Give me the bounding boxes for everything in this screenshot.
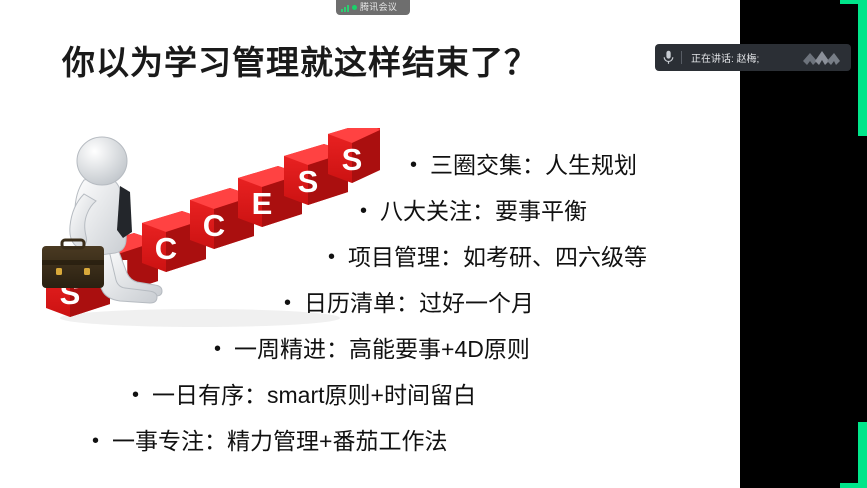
bullet-text: 项目管理：如考研、四六级等 bbox=[348, 246, 647, 269]
bullet-text: 日历清单：过好一个月 bbox=[304, 292, 534, 315]
active-speaker-label: 正在讲话: 赵梅; bbox=[682, 50, 797, 65]
screen-share-border-bottom bbox=[840, 483, 867, 488]
list-item: • 日历清单：过好一个月 bbox=[0, 280, 740, 326]
meeting-screen-share-view: 你以为学习管理就这样结束了？ bbox=[0, 0, 867, 488]
bullet-marker: • bbox=[214, 339, 221, 359]
screen-share-border-right bbox=[858, 0, 867, 136]
bullet-marker: • bbox=[132, 385, 139, 405]
page-title: 你以为学习管理就这样结束了？ bbox=[62, 36, 538, 84]
recording-dot-icon bbox=[352, 5, 357, 10]
signal-bars-icon bbox=[341, 4, 349, 12]
meeting-app-label: 腾讯会议 bbox=[360, 0, 397, 15]
bullet-list: • 三圈交集：人生规划 • 八大关注：要事平衡 • 项目管理：如考研、四六级等 … bbox=[0, 142, 740, 464]
bullet-text: 一周精进：高能要事+4D原则 bbox=[234, 338, 530, 361]
list-item: • 项目管理：如考研、四六级等 bbox=[0, 234, 740, 280]
list-item: • 一周精进：高能要事+4D原则 bbox=[0, 326, 740, 372]
bullet-text: 八大关注：要事平衡 bbox=[380, 200, 587, 223]
list-item: • 一日有序：smart原则+时间留白 bbox=[0, 372, 740, 418]
list-item: • 一事专注：精力管理+番茄工作法 bbox=[0, 418, 740, 464]
bullet-marker: • bbox=[92, 431, 99, 451]
bullet-marker: • bbox=[360, 201, 367, 221]
bullet-text: 一事专注：精力管理+番茄工作法 bbox=[112, 430, 447, 453]
screen-share-border-right-bottom bbox=[858, 422, 867, 488]
list-item: • 八大关注：要事平衡 bbox=[0, 188, 740, 234]
bullet-marker: • bbox=[328, 247, 335, 267]
bullet-text: 三圈交集：人生规划 bbox=[430, 154, 637, 177]
shared-slide: 你以为学习管理就这样结束了？ bbox=[0, 0, 740, 488]
bullet-marker: • bbox=[410, 155, 417, 175]
active-speaker-bar[interactable]: 正在讲话: 赵梅; bbox=[655, 44, 851, 71]
meeting-app-pill[interactable]: 腾讯会议 bbox=[336, 0, 410, 15]
screen-share-border-top bbox=[840, 0, 858, 4]
bullet-text: 一日有序：smart原则+时间留白 bbox=[152, 384, 476, 407]
microphone-icon bbox=[655, 50, 681, 65]
bullet-marker: • bbox=[284, 293, 291, 313]
audio-wave-icon bbox=[797, 49, 851, 67]
list-item: • 三圈交集：人生规划 bbox=[0, 142, 740, 188]
